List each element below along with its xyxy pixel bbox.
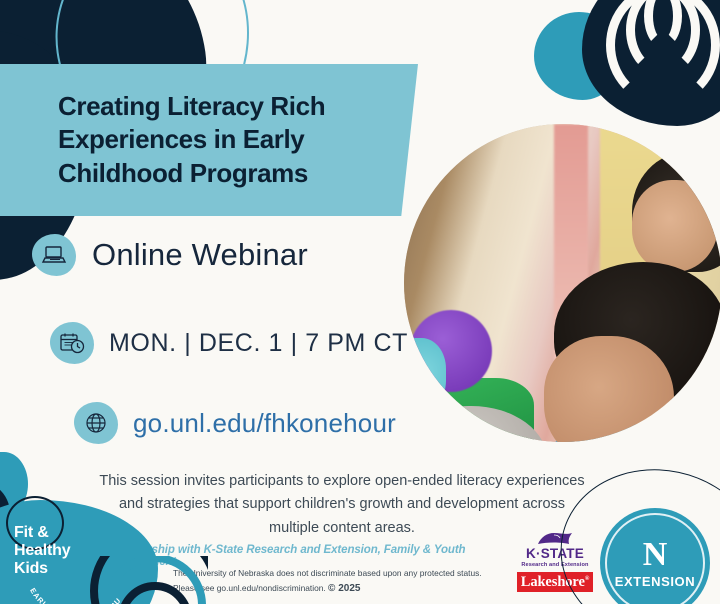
lakeshore-name: Lakeshore® — [521, 574, 589, 591]
datetime-label: MON. | DEC. 1 | 7 PM CT — [109, 329, 408, 358]
teal-sliver-left — [0, 452, 28, 516]
white-arc-inner — [644, 0, 682, 48]
partnership-note: Partnership with K-State Research and Ex… — [112, 544, 532, 568]
info-row-format: Online Webinar — [32, 234, 308, 276]
title-banner: Creating Literacy Rich Experiences in Ea… — [0, 64, 418, 216]
kstate-name: K·STATE — [519, 547, 591, 562]
kstate-logo: K·STATE Research and Extension — [519, 531, 591, 568]
nebraska-extension-logo: N EXTENSION — [600, 508, 710, 604]
fit-healthy-kids-logo: Fit & Healthy Kids EARLY CHILDHOOD EDUCA… — [14, 524, 134, 604]
navy-circle-bottom-left — [0, 478, 10, 548]
copyright-notice: © 2025 — [328, 583, 360, 594]
wildcat-icon — [535, 531, 575, 547]
fhk-tagline: EARLY CHILDHOOD EDUCATION — [26, 580, 123, 604]
extension-label: EXTENSION — [615, 574, 696, 589]
info-row-url[interactable]: go.unl.edu/fhkonehour — [74, 402, 396, 444]
svg-text:EARLY CHILDHOOD EDUCATION: EARLY CHILDHOOD EDUCATION — [26, 580, 123, 604]
laptop-icon — [32, 234, 76, 276]
lakeshore-logo: Lakeshore® — [517, 572, 593, 592]
disclaimer-line-1: The University of Nebraska does not disc… — [173, 568, 482, 578]
webinar-photo — [404, 124, 720, 442]
white-arc-outer — [606, 0, 720, 106]
fhk-line-1: Fit & — [14, 524, 134, 542]
fhk-line-2: Healthy — [14, 542, 134, 560]
url-label[interactable]: go.unl.edu/fhkonehour — [133, 408, 396, 439]
format-label: Online Webinar — [92, 237, 308, 273]
photo-child-back-face — [632, 180, 718, 272]
navy-arc-blob-top-right — [582, 0, 720, 126]
flyer-canvas: Creating Literacy Rich Experiences in Ea… — [0, 0, 720, 604]
fhk-line-3: Kids — [14, 560, 134, 578]
info-row-datetime: MON. | DEC. 1 | 7 PM CT — [50, 322, 408, 364]
teal-circle-top-right — [534, 12, 624, 100]
kstate-subtitle: Research and Extension — [519, 562, 591, 568]
nondiscrimination-disclaimer: The University of Nebraska does not disc… — [173, 567, 523, 597]
session-description: This session invites participants to exp… — [96, 470, 588, 540]
photo-child-front-face — [544, 336, 674, 442]
globe-icon — [74, 402, 118, 444]
disclaimer-line-2: Please see go.unl.edu/nondiscrimination. — [173, 583, 326, 593]
calendar-clock-icon — [50, 322, 94, 364]
registered-mark: ® — [585, 576, 589, 582]
nebraska-monogram: N — [643, 538, 668, 572]
white-arc-middle — [626, 0, 700, 76]
page-title: Creating Literacy Rich Experiences in Ea… — [0, 90, 418, 190]
fhk-tagline-arc: EARLY CHILDHOOD EDUCATION — [26, 580, 126, 604]
